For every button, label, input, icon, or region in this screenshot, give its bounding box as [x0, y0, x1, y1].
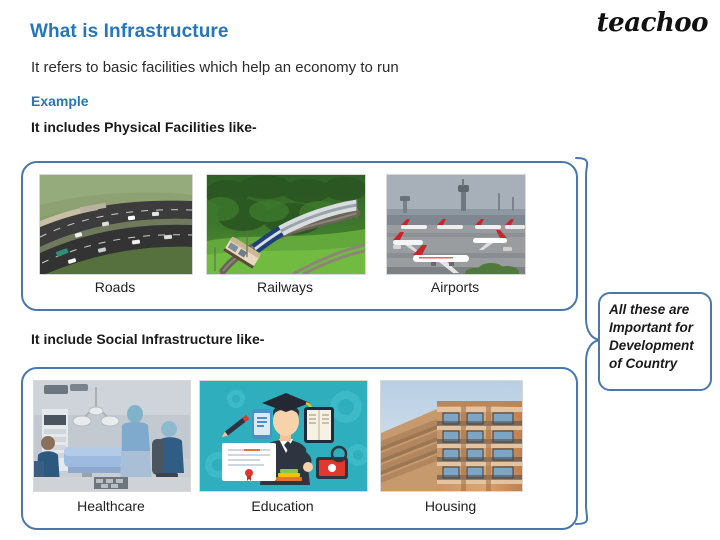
callout-line-1: All these are: [609, 301, 708, 319]
slide-canvas: What is Infrastructure It refers to basi…: [0, 0, 720, 539]
highway-aerial-illustration: [40, 175, 192, 274]
housing-image: [380, 380, 523, 492]
physical-facilities-group: Roads: [21, 161, 578, 311]
healthcare-image: [33, 380, 191, 492]
item-airports: Airports: [386, 174, 524, 302]
item-education: Education: [199, 380, 366, 518]
caption-housing: Housing: [380, 498, 521, 514]
page-subtitle: It refers to basic facilities which help…: [31, 59, 399, 76]
example-label: Example: [31, 93, 89, 109]
item-healthcare: Healthcare: [33, 380, 189, 518]
airports-image: [386, 174, 526, 275]
item-railways: Railways: [206, 174, 364, 302]
caption-railways: Railways: [206, 279, 364, 295]
item-housing: Housing: [380, 380, 521, 518]
callout-line-2: Important for: [609, 319, 708, 337]
airport-apron-illustration: [387, 175, 525, 274]
operating-room-illustration: [34, 381, 190, 491]
train-curve-illustration: [207, 175, 365, 274]
page-title: What is Infrastructure: [30, 21, 229, 43]
education-image: [199, 380, 368, 492]
callout-line-3: Development: [609, 337, 708, 355]
roads-image: [39, 174, 193, 275]
conclusion-callout: All these are Important for Development …: [598, 292, 712, 391]
caption-healthcare: Healthcare: [33, 498, 189, 514]
item-roads: Roads: [39, 174, 191, 302]
apartment-building-illustration: [381, 381, 522, 491]
railways-image: [206, 174, 366, 275]
caption-airports: Airports: [386, 279, 524, 295]
physical-facilities-lead: It includes Physical Facilities like-: [31, 119, 257, 135]
graduate-flat-illustration: [200, 381, 367, 491]
caption-education: Education: [199, 498, 366, 514]
caption-roads: Roads: [39, 279, 191, 295]
social-infrastructure-lead: It include Social Infrastructure like-: [31, 331, 264, 347]
social-infrastructure-group: Healthcare: [21, 367, 578, 530]
callout-line-4: of Country: [609, 355, 708, 373]
teachoo-logo: teachoo: [597, 8, 708, 38]
